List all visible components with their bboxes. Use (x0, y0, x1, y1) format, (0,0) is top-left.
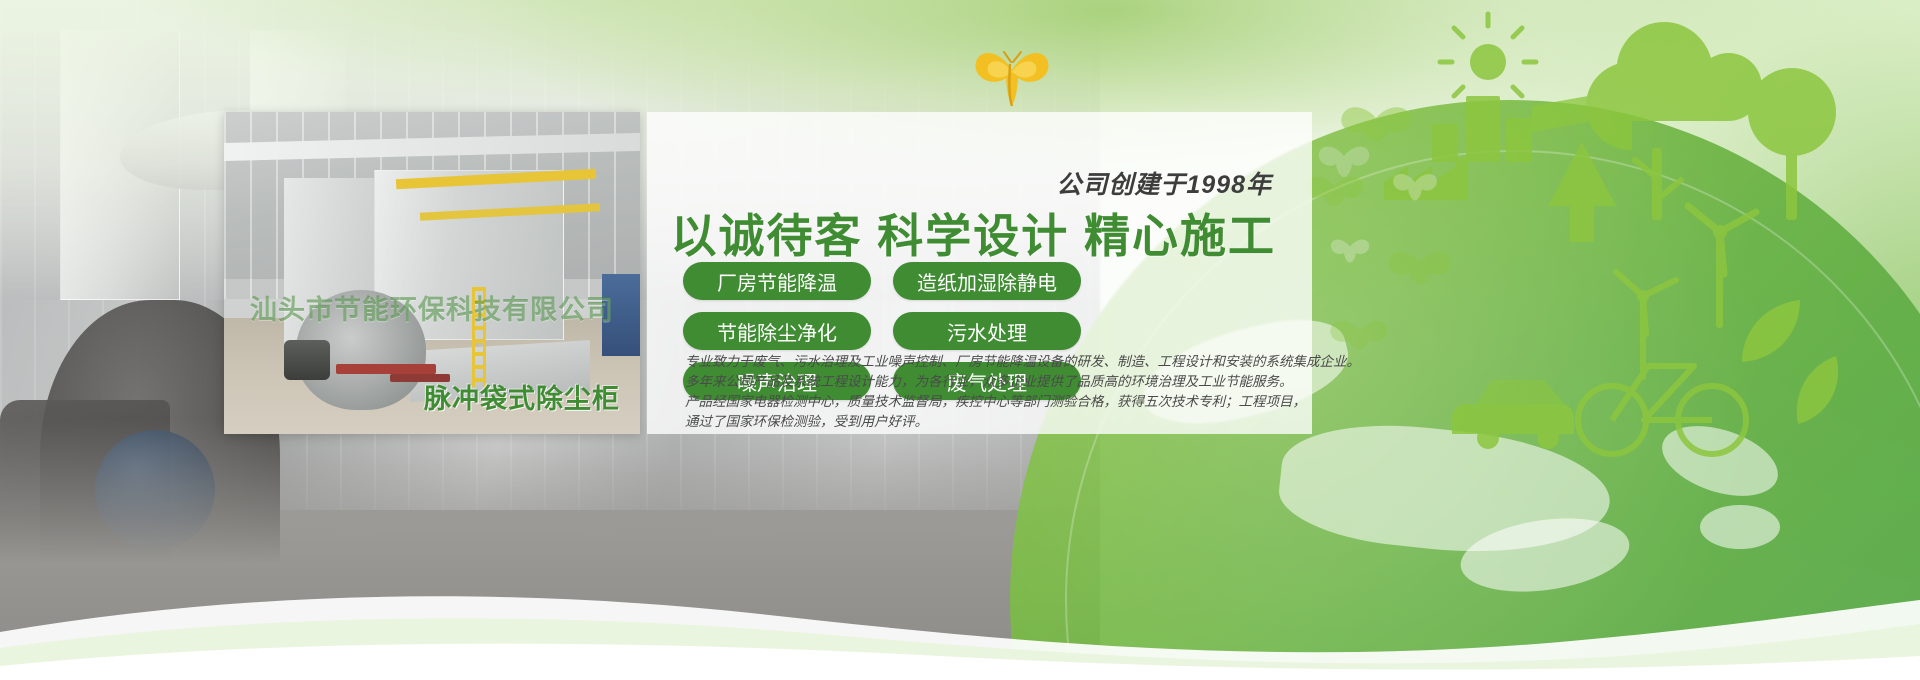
product-photo-card: 汕头市节能环保科技有限公司 脉冲袋式除尘柜 (224, 112, 640, 434)
company-description: 专业致力于废气、污水治理及工业噪声控制、厂房节能降温设备的研发、制造、工程设计和… (685, 352, 1285, 432)
machine-base-silhouette (0, 400, 170, 630)
content-panel: 公司创建于1998年 以诚待客 科学设计 精心施工 厂房节能降温 造纸加湿除静电… (647, 112, 1312, 434)
description-line: 多年来公司产品及系统工程设计能力，为各行业，众多企业提供了品质高的环境治理及工业… (685, 372, 1285, 392)
photo-caption: 脉冲袋式除尘柜 (424, 377, 620, 416)
description-line: 产品经国家电器检测中心，质量技术监督局，疾控中心等部门测验合格，获得五次技术专利… (685, 392, 1285, 412)
headline-slogan: 以诚待客 科学设计 精心施工 (670, 200, 1276, 266)
service-tag[interactable]: 厂房节能降温 (683, 262, 871, 300)
founded-year-eyebrow: 公司创建于1998年 (1056, 165, 1272, 201)
photo-watermark: 汕头市节能环保科技有限公司 (224, 288, 640, 327)
photo-fan-motor (284, 340, 330, 380)
service-tag[interactable]: 污水处理 (893, 312, 1081, 350)
ground-plane (0, 510, 1100, 680)
photo-red-beam (336, 364, 436, 374)
service-tag[interactable]: 节能除尘净化 (683, 312, 871, 350)
blue-drum-shape (95, 430, 215, 550)
description-line: 专业致力于废气、污水治理及工业噪声控制、厂房节能降温设备的研发、制造、工程设计和… (685, 352, 1285, 372)
map-blob (1700, 505, 1780, 549)
promo-banner: 汕头市节能环保科技有限公司 脉冲袋式除尘柜 公司创建于1998年 以诚待客 科学… (0, 0, 1920, 680)
service-tag[interactable]: 造纸加湿除静电 (893, 262, 1081, 300)
description-line: 通过了国家环保检测验，受到用户好评。 (685, 412, 1285, 432)
